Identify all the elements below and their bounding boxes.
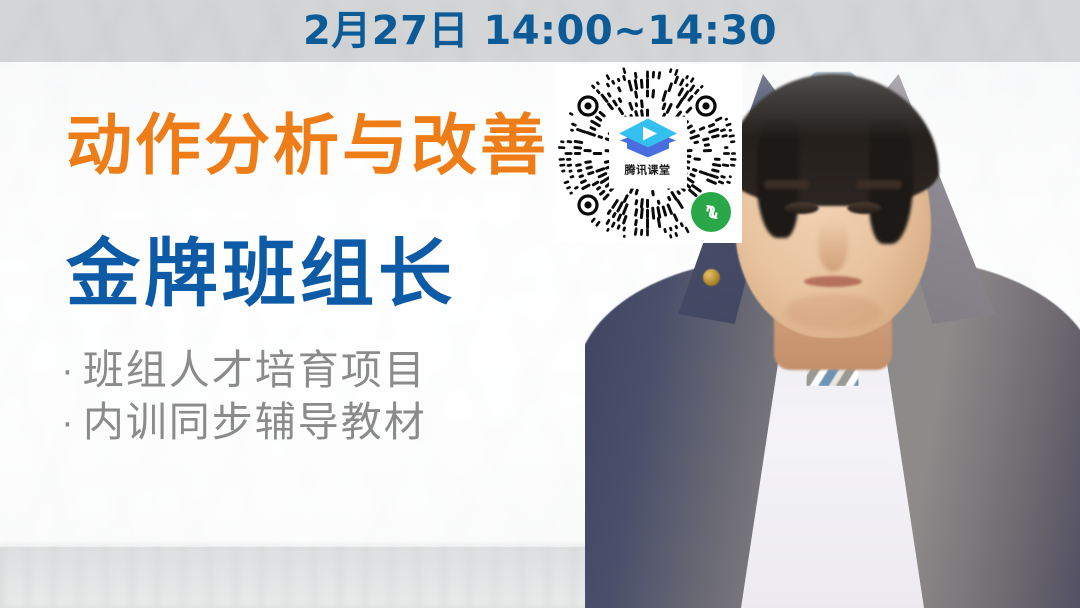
bullet-dot-icon: · (62, 408, 75, 442)
right-eye (847, 202, 881, 214)
text-column: 动作分析与改善 金牌班组长 · 班组人才培育项目 · 内训同步辅导教材 (0, 62, 560, 608)
list-item: · 内训同步辅导教材 (62, 397, 427, 449)
qr-brand-label: 腾讯课堂 (625, 164, 671, 175)
chin (785, 294, 881, 330)
bullet-dot-icon: · (62, 356, 75, 390)
feature-list: · 班组人才培育项目 · 内训同步辅导教材 (62, 345, 427, 448)
tencent-classroom-logo: 腾讯课堂 (609, 116, 687, 188)
mouth (804, 276, 862, 287)
nose (818, 220, 848, 272)
graduation-cap-play-icon (617, 116, 679, 162)
list-item: · 班组人才培育项目 (62, 345, 427, 397)
qr-code-panel[interactable]: 腾讯课堂 (553, 64, 742, 243)
right-eyebrow (856, 180, 902, 189)
course-series-title: 金牌班组长 (66, 237, 456, 311)
left-eyebrow (764, 180, 810, 189)
list-item-label: 内训同步辅导教材 (83, 397, 427, 449)
left-eye (784, 202, 818, 214)
wechat-mini-program-icon (691, 192, 731, 232)
course-promo-poster: 2月27日 14:00~14:30 动作分析与改善 金牌班组长 · 班组人才培育… (0, 0, 1080, 608)
lapel-pin (703, 269, 720, 286)
session-datetime: 2月27日 14:00~14:30 (303, 11, 777, 51)
list-item-label: 班组人才培育项目 (83, 345, 427, 397)
hair-left-side (756, 118, 798, 238)
header-bar: 2月27日 14:00~14:30 (0, 0, 1080, 62)
course-topic-title: 动作分析与改善 (66, 113, 549, 179)
